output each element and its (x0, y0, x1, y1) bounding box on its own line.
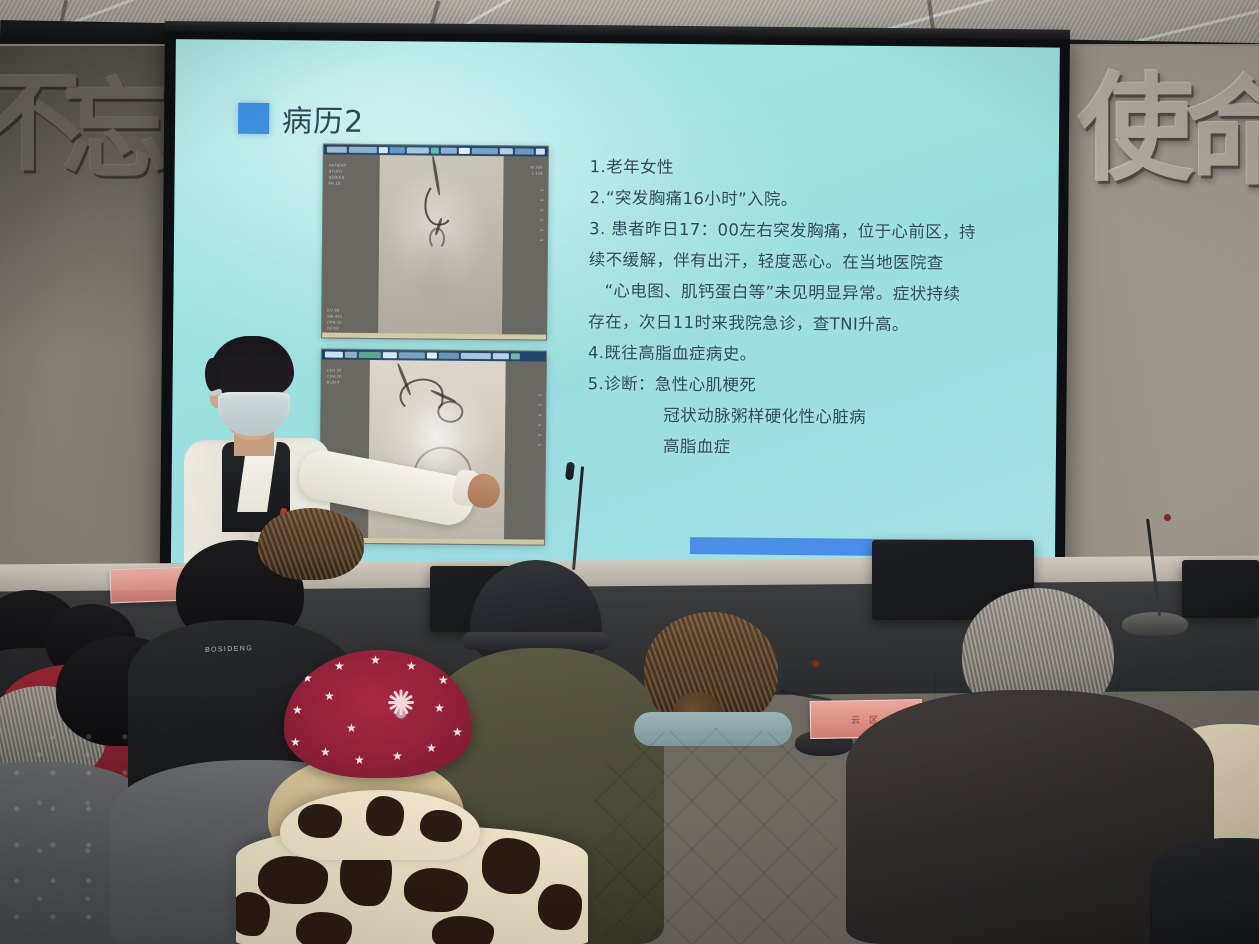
wall-character-wang: 忘 (62, 78, 170, 186)
slide-line-6: 存在，次日11时来我院急诊，查TNI升高。 (588, 306, 1004, 341)
slide-line-5: “心电图、肌钙蛋白等”未见明显异常。症状持续 (588, 275, 1004, 310)
slide-title: 病历2 (282, 96, 365, 141)
slide-title-row: 病历2 (238, 96, 365, 141)
slide-body-text: 1.老年女性 2.“突发胸痛16小时”入院。 3. 患者昨日17：00左右突发胸… (587, 151, 1006, 465)
slide-line-7: 4.既往高脂血症病史。 (588, 337, 1004, 372)
desk-monitor-far-right (1182, 560, 1259, 618)
slide-line-3: 3. 患者昨日17：00左右突发胸痛，位于心前区，持 (589, 213, 1005, 248)
slide-line-1: 1.老年女性 (590, 151, 1006, 186)
beret-rosette (380, 692, 422, 734)
surgical-mask (218, 392, 290, 436)
slide-line-4: 续不缓解，伴有出汗，轻度恶心。在当地医院查 (589, 244, 1005, 279)
wall-character-ming: 命 (1186, 76, 1259, 192)
slide-line-9: 冠状动脉粥样硬化性心脏病 (587, 399, 1003, 434)
lecture-hall-photo: 不 忘 使 命 病历2 (0, 0, 1259, 944)
slide-line-8: 5.诊断：急性心肌梗死 (587, 368, 1003, 403)
slide-line-2: 2.“突发胸痛16小时”入院。 (589, 182, 1005, 217)
hair (210, 336, 294, 398)
slide-line-10: 高脂血症 (587, 430, 1003, 465)
title-bullet-square (238, 102, 269, 133)
wall-character-shi: 使 (1078, 72, 1194, 188)
angiography-film-upper (378, 155, 504, 339)
coronary-angiography-upper: PATIENTSTUDYSERIESFR 15 KV 80MA 420FPS 1… (321, 144, 549, 341)
